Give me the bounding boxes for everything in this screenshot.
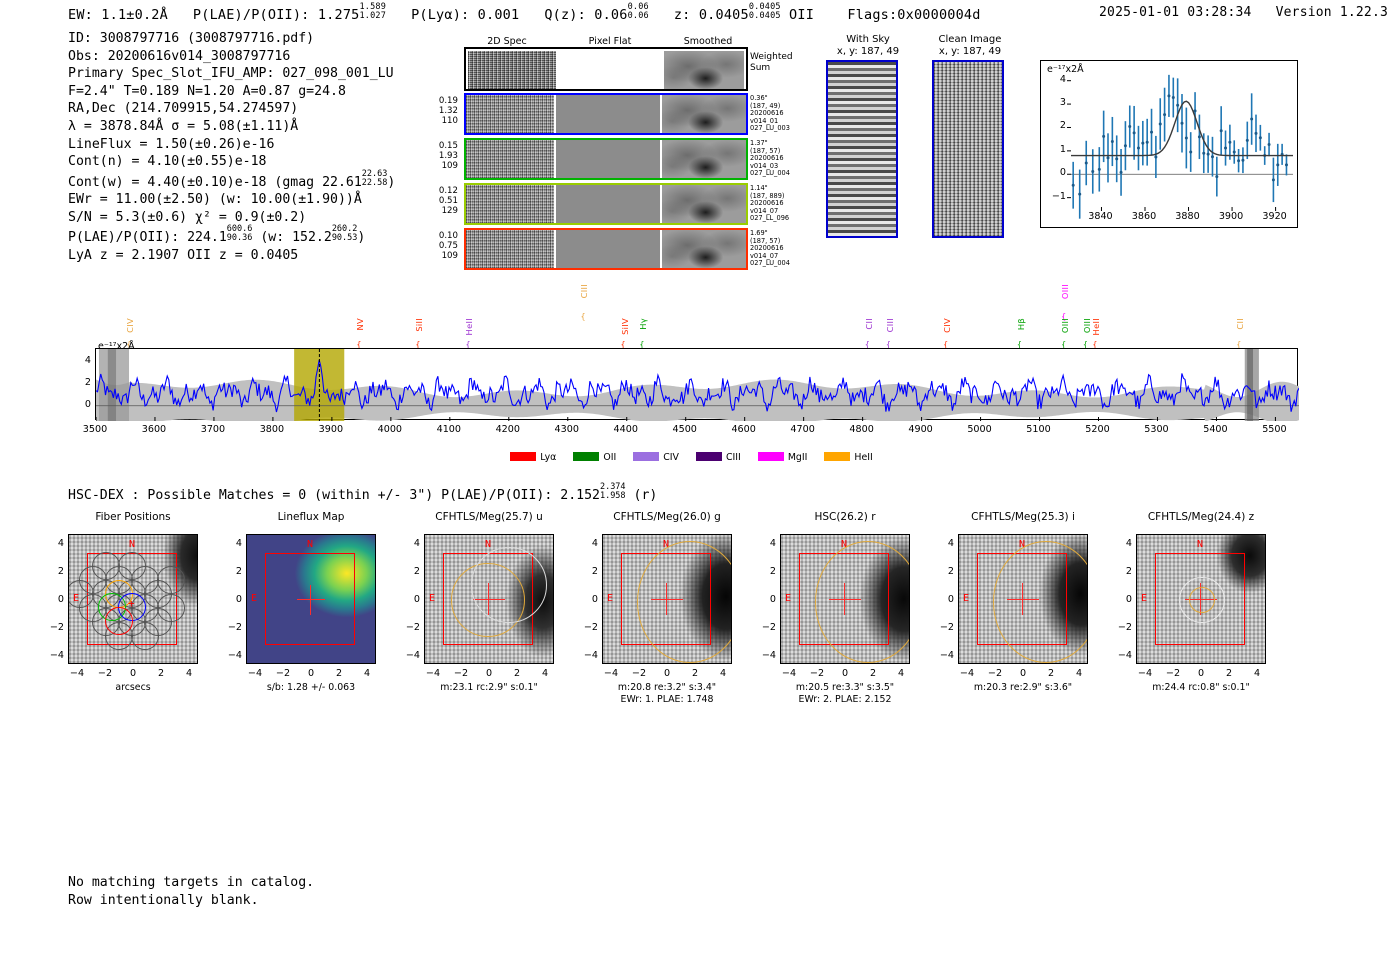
header-plae-label: P(LAE)/P(OII): 1.275 (193, 7, 360, 23)
cutout-xtick: 4 (354, 668, 380, 679)
spectrum-xtick: 5400 (1197, 424, 1233, 435)
emission-line-label: SiIV (620, 318, 630, 335)
hscdex-summary: HSC-DEX : Possible Matches = 0 (within +… (68, 484, 657, 503)
spectrum-xtick: 3500 (77, 424, 113, 435)
emission-line-label: CIII (885, 318, 895, 332)
info-primary-spec: Primary Spec_Slot_IFU_AMP: 027_098_001_L… (68, 65, 395, 83)
header-z-range: 0.04050.0405 (749, 3, 781, 21)
compass-east: E (607, 593, 613, 604)
spectrum-unit-label: e⁻¹⁷x2Å (98, 341, 135, 352)
spectrum-xtick: 5500 (1256, 424, 1292, 435)
cutout-ytick: 4 (758, 538, 776, 549)
cutout-caption: m:20.8 re:3.2" s:3.4"EWr: 1. PLAE: 1.748 (577, 682, 757, 706)
cutout-image[interactable]: NE (1136, 534, 1266, 664)
cutout-xtick: 0 (654, 668, 680, 679)
info-plae-w-range: 260.290.53 (332, 225, 358, 243)
emission-line-fit-svg (1041, 61, 1299, 229)
spectrum-xtick: 4200 (490, 424, 526, 435)
cutout-xtick: 2 (504, 668, 530, 679)
cutout-title: CFHTLS/Meg(24.4) z (1121, 511, 1281, 523)
cutout-title: HSC(26.2) r (765, 511, 925, 523)
cutout-image[interactable]: NE (958, 534, 1088, 664)
spec2d-title-2d: 2D Spec (472, 36, 542, 47)
cutout-ytick: −4 (46, 650, 64, 661)
cutout-xtick: 0 (1188, 668, 1214, 679)
cutout-xtick: −2 (1160, 668, 1186, 679)
cutout-ytick: 2 (758, 566, 776, 577)
info-plae-range: 600.690.36 (227, 225, 253, 243)
header-plae-range: 1.5891.027 (359, 3, 386, 21)
spectrum-xtick: 3600 (136, 424, 172, 435)
info-gmag-range: 22.6322.58 (362, 170, 388, 188)
cutout-ytick: 0 (224, 594, 242, 605)
info-radec: RA,Dec (214.709915,54.274597) (68, 100, 395, 118)
cutout-title: CFHTLS/Meg(25.3) i (943, 511, 1103, 523)
spec2d-row-stat-value: 109 (418, 162, 458, 172)
compass-north: N (1197, 539, 1203, 550)
header-timestamp-version: 2025-01-01 03:28:34 Version 1.22.3 (1099, 5, 1388, 20)
cutout-xtick: 0 (832, 668, 858, 679)
cutout-xtick: −4 (1132, 668, 1158, 679)
aperture-ellipse (815, 541, 910, 663)
legend-swatch (573, 452, 599, 461)
cutout-caption-line2: EWr: 2. PLAE: 2.152 (755, 694, 935, 706)
fiber-circle (131, 622, 159, 650)
spectrum-xtick: 4300 (549, 424, 585, 435)
emission-line-label: HeII (1091, 318, 1101, 335)
cutout-ytick: −2 (224, 622, 242, 633)
full-spectrum-plot (95, 348, 1298, 420)
legend-label: CIII (726, 452, 741, 463)
cutout-caption-line1: m:20.8 re:3.2" s:3.4" (577, 682, 757, 694)
cutout-caption-line2: EWr: 1. PLAE: 1.748 (577, 694, 757, 706)
spec2d-fiber-2dspec (466, 185, 554, 223)
fiber-circle (157, 594, 185, 622)
spec2d-row-stat-value: 129 (418, 207, 458, 217)
spec2d-fiber-meta-line: 027_LU_004 (750, 170, 790, 178)
spec2d-summed-flat (558, 51, 662, 89)
fiber-circle-red (105, 607, 133, 635)
spec2d-fiber-smoothed (662, 140, 746, 178)
emission-line-label: CIII (579, 284, 589, 298)
cutout-xtick: −4 (242, 668, 268, 679)
compass-east: E (251, 593, 257, 604)
spec2d-row-stat-value: 109 (418, 252, 458, 262)
info-plae-close: ) (357, 230, 365, 245)
legend-label: HeII (854, 452, 872, 463)
aperture-ellipse-white (1179, 577, 1225, 623)
aperture-ellipse (637, 541, 732, 663)
cutout-ytick: −4 (224, 650, 242, 661)
spec2d-title-flat: Pixel Flat (570, 36, 650, 47)
spectrum-xtick: 4100 (431, 424, 467, 435)
spec2d-fiber-2dspec (466, 230, 554, 268)
spectrum-xtick: 4900 (903, 424, 939, 435)
emission-line-label: OIII (1060, 318, 1070, 333)
fit-xtick: 3860 (1131, 211, 1157, 222)
hscdex-filter: (r) (634, 488, 658, 503)
cutout-caption-line1: arcsecs (43, 682, 223, 694)
spec2d-title-smoothed: Smoothed (668, 36, 748, 47)
spec2d-fiber-meta-line: 027_LU_004 (750, 260, 790, 268)
cutout-ytick: −4 (758, 650, 776, 661)
spectrum-xtick: 4000 (372, 424, 408, 435)
spec2d-fiber-flat (556, 230, 660, 268)
fit-ytick: 4 (1048, 74, 1066, 85)
header-version: Version 1.22.3 (1276, 5, 1388, 20)
cutout-title: CFHTLS/Meg(25.7) u (409, 511, 569, 523)
spec2d-summed-row (464, 47, 748, 91)
full-spectrum-svg (96, 349, 1299, 421)
cutout-ytick: −4 (402, 650, 420, 661)
spectrum-xtick: 5200 (1080, 424, 1116, 435)
fiber-circle (157, 566, 185, 594)
header-z-species: OII (789, 7, 814, 23)
cutout-ytick: 4 (580, 538, 598, 549)
fit-ytick: 0 (1048, 167, 1066, 178)
spectrum-xtick: 5300 (1138, 424, 1174, 435)
cutout-xtick: −2 (270, 668, 296, 679)
cutout-xtick: 2 (682, 668, 708, 679)
fit-ytick: 3 (1048, 97, 1066, 108)
cutout-ytick: −2 (46, 622, 64, 633)
cutout-ytick: 2 (224, 566, 242, 577)
info-ewr: EWr = 11.00(±2.50) (w: 10.00(±1.90))Å (68, 191, 395, 209)
cutout-xtick: 0 (120, 668, 146, 679)
aperture-ellipse (993, 541, 1088, 663)
info-lambda-sigma: λ = 3878.84Å σ = 5.08(±1.11)Å (68, 118, 395, 136)
cutout-caption-line1: m:24.4 rc:0.8" s:0.1" (1111, 682, 1291, 694)
spectrum-ytick: 0 (75, 399, 91, 410)
spec2d-row-stat-value: 110 (418, 117, 458, 127)
cutout-xtick: 2 (1216, 668, 1242, 679)
center-marker: + (128, 597, 135, 610)
header-plya: P(Lyα): 0.001 (411, 7, 519, 23)
cutout-caption: m:20.5 re:3.3" s:3.5"EWr: 2. PLAE: 2.152 (755, 682, 935, 706)
spectrum-xtick: 4800 (844, 424, 880, 435)
cutout-xtick: −4 (64, 668, 90, 679)
cutout-image[interactable]: NE (602, 534, 732, 664)
bottom-note-line1: No matching targets in catalog. (68, 874, 314, 892)
spec2d-fiber-flat (556, 185, 660, 223)
cutout-ytick: 4 (224, 538, 242, 549)
spectrum-xtick: 5100 (1021, 424, 1057, 435)
cutout-ytick: −2 (402, 622, 420, 633)
cutout-title: Lineflux Map (231, 511, 391, 523)
cutout-xtick: −4 (420, 668, 446, 679)
cutout-image[interactable]: NE (780, 534, 910, 664)
cutout-xtick: 2 (148, 668, 174, 679)
hscdex-range: 2.3741.958 (600, 483, 626, 501)
cutout-ytick: 0 (1114, 594, 1132, 605)
cutout-xtick: −4 (776, 668, 802, 679)
spectrum-legend: LyαOIICIVCIIIMgIIHeII (0, 452, 1400, 463)
emission-line-label: Hγ (638, 318, 648, 330)
header-qz: Q(z): 0.06 (544, 7, 627, 23)
clean-image-title: Clean Image x, y: 187, 49 (920, 34, 1020, 58)
cutout-ytick: 2 (46, 566, 64, 577)
info-id: ID: 3008797716 (3008797716.pdf) (68, 30, 395, 48)
emission-line-label: SiII (414, 318, 424, 332)
cutout-ytick: 2 (402, 566, 420, 577)
fit-xtick: 3840 (1087, 211, 1113, 222)
legend-label: MgII (788, 452, 808, 463)
cutout-caption: m:23.1 rc:2.9" s:0.1" (399, 682, 579, 694)
spec2d-fiber-meta-line: 027_LL_096 (750, 215, 789, 223)
info-cont-w-close: ) (387, 175, 395, 190)
spec2d-fiber-smoothed (662, 185, 746, 223)
header-z: z: 0.0405 (674, 7, 749, 23)
spectrum-xtick: 4700 (785, 424, 821, 435)
emission-line-label: Hβ (1016, 318, 1026, 330)
cutout-ytick: −2 (580, 622, 598, 633)
spectrum-ytick: 4 (75, 355, 91, 366)
cutout-caption: arcsecs (43, 682, 223, 694)
fit-xtick: 3880 (1175, 211, 1201, 222)
cutout-caption: m:24.4 rc:0.8" s:0.1" (1111, 682, 1291, 694)
emission-line-label: CIV (942, 318, 952, 333)
compass-north: N (129, 539, 135, 550)
cutout-caption-line1: m:23.1 rc:2.9" s:0.1" (399, 682, 579, 694)
legend-swatch (510, 452, 536, 461)
spec2d-fiber-meta-line: 027_LU_003 (750, 125, 790, 133)
info-obs: Obs: 20200616v014_3008797716 (68, 48, 395, 66)
cutout-ytick: 2 (936, 566, 954, 577)
with-sky-image (826, 60, 898, 238)
cutout-ytick: −2 (1114, 622, 1132, 633)
compass-north: N (307, 539, 313, 550)
cutout-ytick: −4 (936, 650, 954, 661)
spec2d-fiber-row[interactable] (464, 93, 748, 135)
compass-east: E (1141, 593, 1147, 604)
compass-north: N (485, 539, 491, 550)
header-ew: EW: 1.1±0.2Å (68, 7, 168, 23)
cutout-ytick: 0 (580, 594, 598, 605)
legend-swatch (824, 452, 850, 461)
cutout-xtick: 4 (532, 668, 558, 679)
spectrum-xtick: 4600 (726, 424, 762, 435)
cutout-xtick: −2 (448, 668, 474, 679)
clean-image-image (932, 60, 1004, 238)
spec2d-summed-smoothed (664, 51, 744, 89)
info-plae-w-text: (w: 152.2 (260, 230, 331, 245)
cutout-xtick: 4 (888, 668, 914, 679)
cutout-xtick: −4 (954, 668, 980, 679)
legend-swatch (758, 452, 784, 461)
cutout-ytick: 0 (402, 594, 420, 605)
cutout-ytick: 2 (580, 566, 598, 577)
legend-swatch (633, 452, 659, 461)
header-flags: Flags:0x0000004d (847, 7, 980, 23)
compass-east: E (963, 593, 969, 604)
fit-ytick: 2 (1048, 120, 1066, 131)
info-cont-w: Cont(w) = 4.40(±0.10)e-18 (gmag 22.6122.… (68, 171, 395, 192)
cutout-ytick: 4 (936, 538, 954, 549)
cutout-ytick: −4 (580, 650, 598, 661)
info-lineflux: LineFlux = 1.50(±0.26)e-16 (68, 136, 395, 154)
spectrum-xtick: 5000 (962, 424, 998, 435)
spec2d-fiber-row[interactable] (464, 228, 748, 270)
spectrum-ytick: 2 (75, 377, 91, 388)
fit-xtick: 3920 (1262, 211, 1288, 222)
emission-line-bracket: { (580, 312, 585, 321)
cutout-ytick: 0 (758, 594, 776, 605)
spec2d-fiber-meta: 1.69"(187, 57)20200616v014_07027_LU_004 (750, 230, 790, 268)
fit-ytick: −1 (1048, 191, 1066, 202)
cutout-title: CFHTLS/Meg(26.0) g (587, 511, 747, 523)
spectrum-xtick: 3700 (195, 424, 231, 435)
header-summary-line: EW: 1.1±0.2Å P(LAE)/P(OII): 1.2751.5891.… (68, 4, 981, 23)
cutout-ytick: 2 (1114, 566, 1132, 577)
cutout-image[interactable]: NE+ (68, 534, 198, 664)
emission-line-label: OIII (1060, 284, 1070, 299)
info-seeing: F=2.4" T=0.189 N=1.20 A=0.87 g=24.8 (68, 83, 395, 101)
cutout-caption-line1: m:20.3 re:2.9" s:3.6" (933, 682, 1113, 694)
cutout-xtick: −4 (598, 668, 624, 679)
center-crosshair-h (297, 599, 325, 600)
legend-label: OII (603, 452, 616, 463)
cutout-caption: m:20.3 re:2.9" s:3.6" (933, 682, 1113, 694)
cutout-ytick: −2 (936, 622, 954, 633)
cutout-xtick: 2 (860, 668, 886, 679)
cutout-ytick: 4 (46, 538, 64, 549)
bottom-note-line2: Row intentionally blank. (68, 892, 314, 910)
cutout-xtick: 2 (326, 668, 352, 679)
cutout-xtick: 0 (298, 668, 324, 679)
cutout-xtick: 4 (1244, 668, 1270, 679)
spectrum-xtick: 4400 (608, 424, 644, 435)
cutout-xtick: −2 (92, 668, 118, 679)
emission-line-label: NV (355, 318, 365, 330)
cutout-xtick: −2 (626, 668, 652, 679)
cutout-xtick: 0 (1010, 668, 1036, 679)
cutout-xtick: 4 (176, 668, 202, 679)
spec2d-row-stats: 0.151.93109 (418, 142, 458, 171)
aperture-ellipse-white (471, 547, 547, 623)
info-redshifts: LyA z = 2.1907 OII z = 0.0405 (68, 247, 395, 265)
spec2d-row-stats: 0.100.75109 (418, 232, 458, 261)
cutout-image[interactable]: NE (246, 534, 376, 664)
emission-line-label: CII (864, 318, 874, 330)
spec2d-fiber-flat (556, 140, 660, 178)
spectrum-xtick: 4500 (667, 424, 703, 435)
source-info-block: ID: 3008797716 (3008797716.pdf) Obs: 202… (68, 30, 395, 265)
spec2d-weighted-sum-label: Weighted Sum (750, 52, 793, 74)
cutout-xtick: 0 (476, 668, 502, 679)
cutout-ytick: −4 (1114, 650, 1132, 661)
cutout-caption: s/b: 1.28 +/- 0.063 (221, 682, 401, 694)
spectrum-xtick: 3800 (254, 424, 290, 435)
spec2d-fiber-smoothed (662, 230, 746, 268)
spec2d-fiber-meta: 1.37"(187, 57)20200616v014_03027_LU_004 (750, 140, 790, 178)
cutout-xtick: 2 (1038, 668, 1064, 679)
spec2d-fiber-flat (556, 95, 660, 133)
cutout-ytick: −2 (758, 622, 776, 633)
cutout-xtick: 4 (710, 668, 736, 679)
fit-ytick: 1 (1048, 144, 1066, 155)
info-plae-text: P(LAE)/P(OII): 224.1 (68, 230, 227, 245)
cutout-xtick: −2 (804, 668, 830, 679)
spec2d-fiber-row[interactable] (464, 138, 748, 180)
cutout-caption-line1: s/b: 1.28 +/- 0.063 (221, 682, 401, 694)
with-sky-title: With Sky x, y: 187, 49 (822, 34, 914, 58)
compass-east: E (429, 593, 435, 604)
cutout-title: Fiber Positions (53, 511, 213, 523)
cutout-ytick: 4 (402, 538, 420, 549)
spec2d-fiber-meta: 1.14"(187, 889)20200616v014_07027_LL_096 (750, 185, 789, 223)
spectrum-xtick: 3900 (313, 424, 349, 435)
spec2d-fiber-2dspec (466, 140, 554, 178)
cutout-ytick: 0 (46, 594, 64, 605)
header-qz-range: 0.060.06 (628, 3, 649, 21)
spec2d-row-stats: 0.120.51129 (418, 187, 458, 216)
spec2d-fiber-row[interactable] (464, 183, 748, 225)
emission-line-label: HeII (464, 318, 474, 335)
spec2d-fiber-smoothed (662, 95, 746, 133)
bottom-note: No matching targets in catalog. Row inte… (68, 874, 314, 910)
info-cont-w-text: Cont(w) = 4.40(±0.10)e-18 (gmag 22.61 (68, 175, 362, 190)
fit-xtick: 3900 (1218, 211, 1244, 222)
compass-east: E (785, 593, 791, 604)
emission-line-label: CIV (125, 318, 135, 333)
spec2d-row-stats: 0.191.32110 (418, 97, 458, 126)
spec2d-summed-2dspec (468, 51, 556, 89)
cutout-xtick: 4 (1066, 668, 1092, 679)
spec2d-fiber-2dspec (466, 95, 554, 133)
legend-label: Lyα (540, 452, 556, 463)
spec2d-fiber-meta: 0.36"(187, 49)20200616v014_01027_LU_003 (750, 95, 790, 133)
header-timestamp: 2025-01-01 03:28:34 (1099, 5, 1252, 20)
cutout-ytick: 0 (936, 594, 954, 605)
cutout-xtick: −2 (982, 668, 1008, 679)
legend-swatch (696, 452, 722, 461)
emission-line-label: CII (1235, 318, 1245, 330)
info-plae: P(LAE)/P(OII): 224.1600.690.36 (w: 152.2… (68, 226, 395, 247)
legend-label: CIV (663, 452, 679, 463)
info-cont-n: Cont(n) = 4.10(±0.55)e-18 (68, 153, 395, 171)
cutout-caption-line1: m:20.5 re:3.3" s:3.5" (755, 682, 935, 694)
cutout-ytick: 4 (1114, 538, 1132, 549)
cutout-image[interactable]: NE (424, 534, 554, 664)
hscdex-text: HSC-DEX : Possible Matches = 0 (within +… (68, 488, 600, 503)
emission-line-fit-plot: e⁻¹⁷x2Å (1040, 60, 1298, 228)
